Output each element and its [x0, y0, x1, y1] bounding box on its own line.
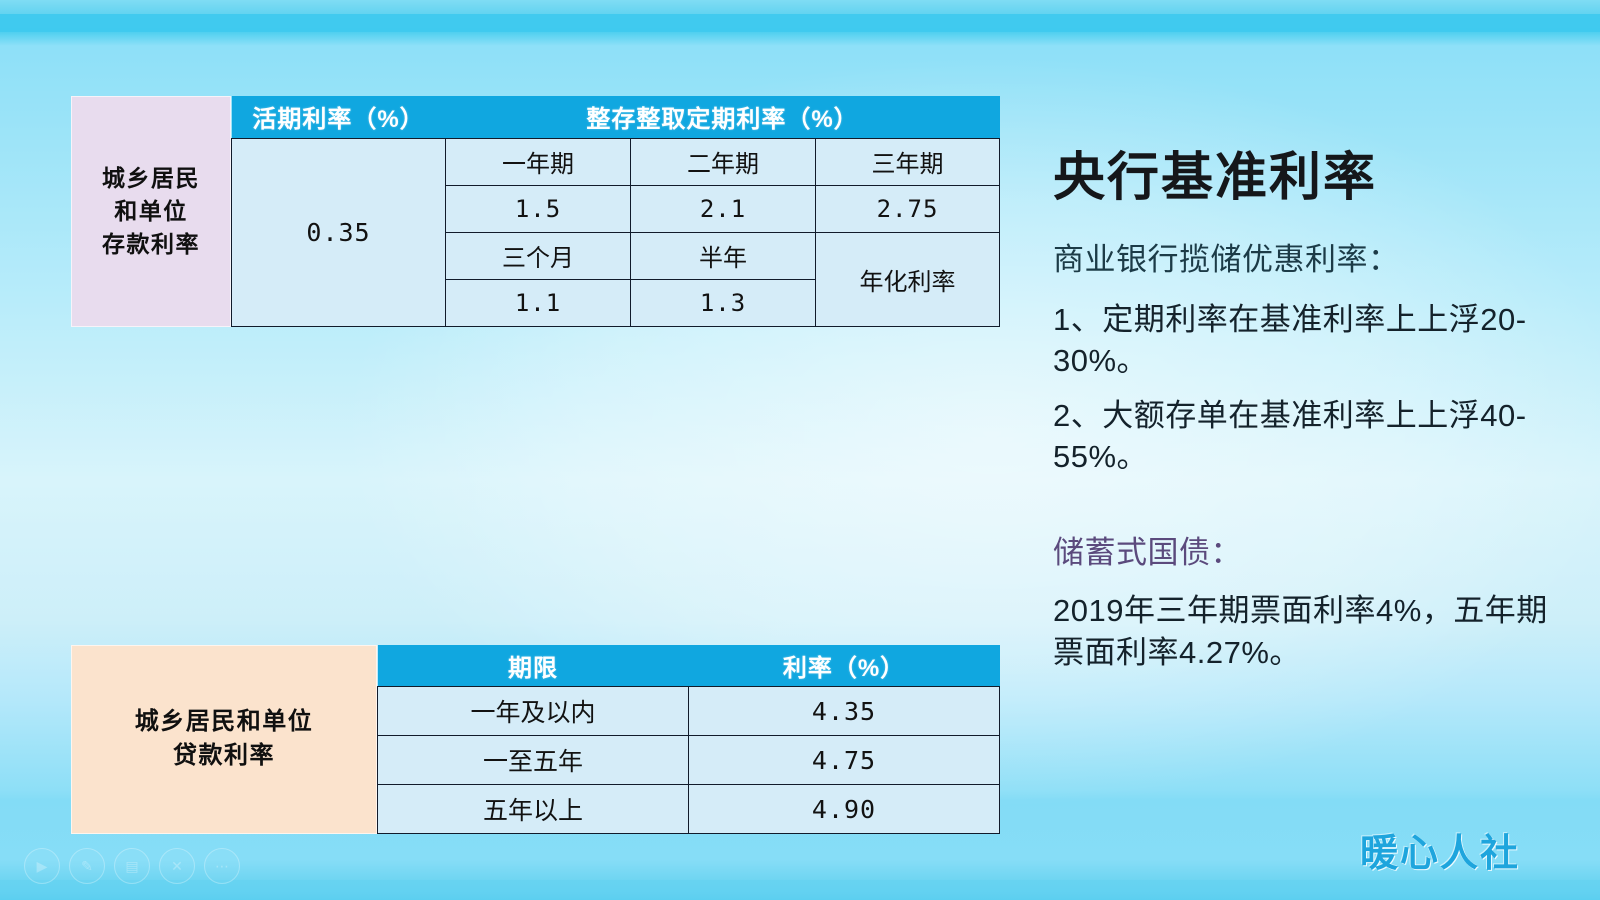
header-loan-term: 期限	[378, 645, 689, 687]
cell-loan-rate-2: 4.75	[689, 736, 1000, 785]
table-row: 活期利率（%） 整存整取定期利率（%）	[232, 96, 1000, 138]
slide-canvas: 城乡居民 和单位 存款利率 活期利率（%） 整存整取定期利率（%） 0.35 一…	[0, 0, 1600, 900]
cell-term-3y-rate: 2.75	[816, 185, 1000, 232]
table-row: 一年及以内 4.35	[378, 687, 1000, 736]
note-item-2: 2、大额存单在基准利率上上浮40-55%。	[1053, 396, 1573, 478]
right-text-panel: 央行基准利率 商业银行揽储优惠利率： 1、定期利率在基准利率上上浮20-30%。…	[1053, 150, 1573, 673]
cell-loan-term-2: 一至五年	[378, 736, 689, 785]
note-glyph: ▤	[125, 859, 138, 873]
table-row: 期限 利率（%）	[378, 645, 1000, 687]
subtitle-commercial-bank: 商业银行揽储优惠利率：	[1053, 241, 1573, 280]
savings-bond-body: 2019年三年期票面利率4%，五年期票面利率4.27%。	[1053, 590, 1573, 673]
note-icon[interactable]: ▤	[114, 848, 150, 884]
close-glyph: ✕	[171, 859, 183, 873]
cell-term-3y-label: 三年期	[816, 138, 1000, 185]
table-row: 0.35 一年期 二年期 三年期	[232, 138, 1000, 185]
table-row: 五年以上 4.90	[378, 785, 1000, 834]
cell-term-3m-rate: 1.1	[446, 279, 631, 326]
cell-annualized-rate-note: 年化利率	[816, 232, 1000, 326]
more-glyph: ⋯	[215, 859, 229, 873]
pen-glyph: ✎	[81, 859, 93, 873]
deposit-label-line-2: 和单位	[102, 195, 200, 228]
cell-term-1y-rate: 1.5	[446, 185, 631, 232]
close-icon[interactable]: ✕	[159, 848, 195, 884]
top-accent-band	[0, 14, 1600, 32]
header-term-rate: 整存整取定期利率（%）	[446, 96, 1000, 138]
play-glyph: ▶	[37, 859, 48, 873]
more-icon[interactable]: ⋯	[204, 848, 240, 884]
note-item-1: 1、定期利率在基准利率上上浮20-30%。	[1053, 300, 1573, 382]
watermark-logo: 暖心人社	[1360, 822, 1520, 877]
player-toolbar[interactable]: ▶ ✎ ▤ ✕ ⋯	[24, 848, 240, 884]
loan-label-line-1: 城乡居民和单位	[135, 705, 314, 739]
page-title: 央行基准利率	[1053, 150, 1573, 207]
deposit-label-line-1: 城乡居民	[102, 162, 200, 195]
cell-term-6m-rate: 1.3	[631, 279, 816, 326]
loan-label-line-2: 贷款利率	[135, 739, 314, 773]
deposit-rate-row-label: 城乡居民 和单位 存款利率	[71, 96, 231, 327]
deposit-rate-grid: 活期利率（%） 整存整取定期利率（%） 0.35 一年期 二年期 三年期 1.5…	[231, 96, 1000, 327]
cell-term-1y-label: 一年期	[446, 138, 631, 185]
cell-loan-term-1: 一年及以内	[378, 687, 689, 736]
cell-loan-rate-3: 4.90	[689, 785, 1000, 834]
cell-term-6m-label: 半年	[631, 232, 816, 279]
subtitle-savings-bond: 储蓄式国债：	[1053, 534, 1573, 573]
cell-demand-rate-value: 0.35	[232, 138, 446, 326]
loan-rate-grid: 期限 利率（%） 一年及以内 4.35 一至五年 4.75 五年以上 4.90	[377, 645, 1000, 835]
cell-loan-rate-1: 4.35	[689, 687, 1000, 736]
cell-term-2y-rate: 2.1	[631, 185, 816, 232]
loan-rate-row-label: 城乡居民和单位 贷款利率	[71, 645, 377, 835]
cell-term-2y-label: 二年期	[631, 138, 816, 185]
cell-term-3m-label: 三个月	[446, 232, 631, 279]
header-loan-rate: 利率（%）	[689, 645, 1000, 687]
deposit-label-line-3: 存款利率	[102, 228, 200, 261]
table-row: 一至五年 4.75	[378, 736, 1000, 785]
play-icon[interactable]: ▶	[24, 848, 60, 884]
pen-icon[interactable]: ✎	[69, 848, 105, 884]
header-demand-rate: 活期利率（%）	[232, 96, 446, 138]
bottom-accent-band	[0, 880, 1600, 894]
cell-loan-term-3: 五年以上	[378, 785, 689, 834]
